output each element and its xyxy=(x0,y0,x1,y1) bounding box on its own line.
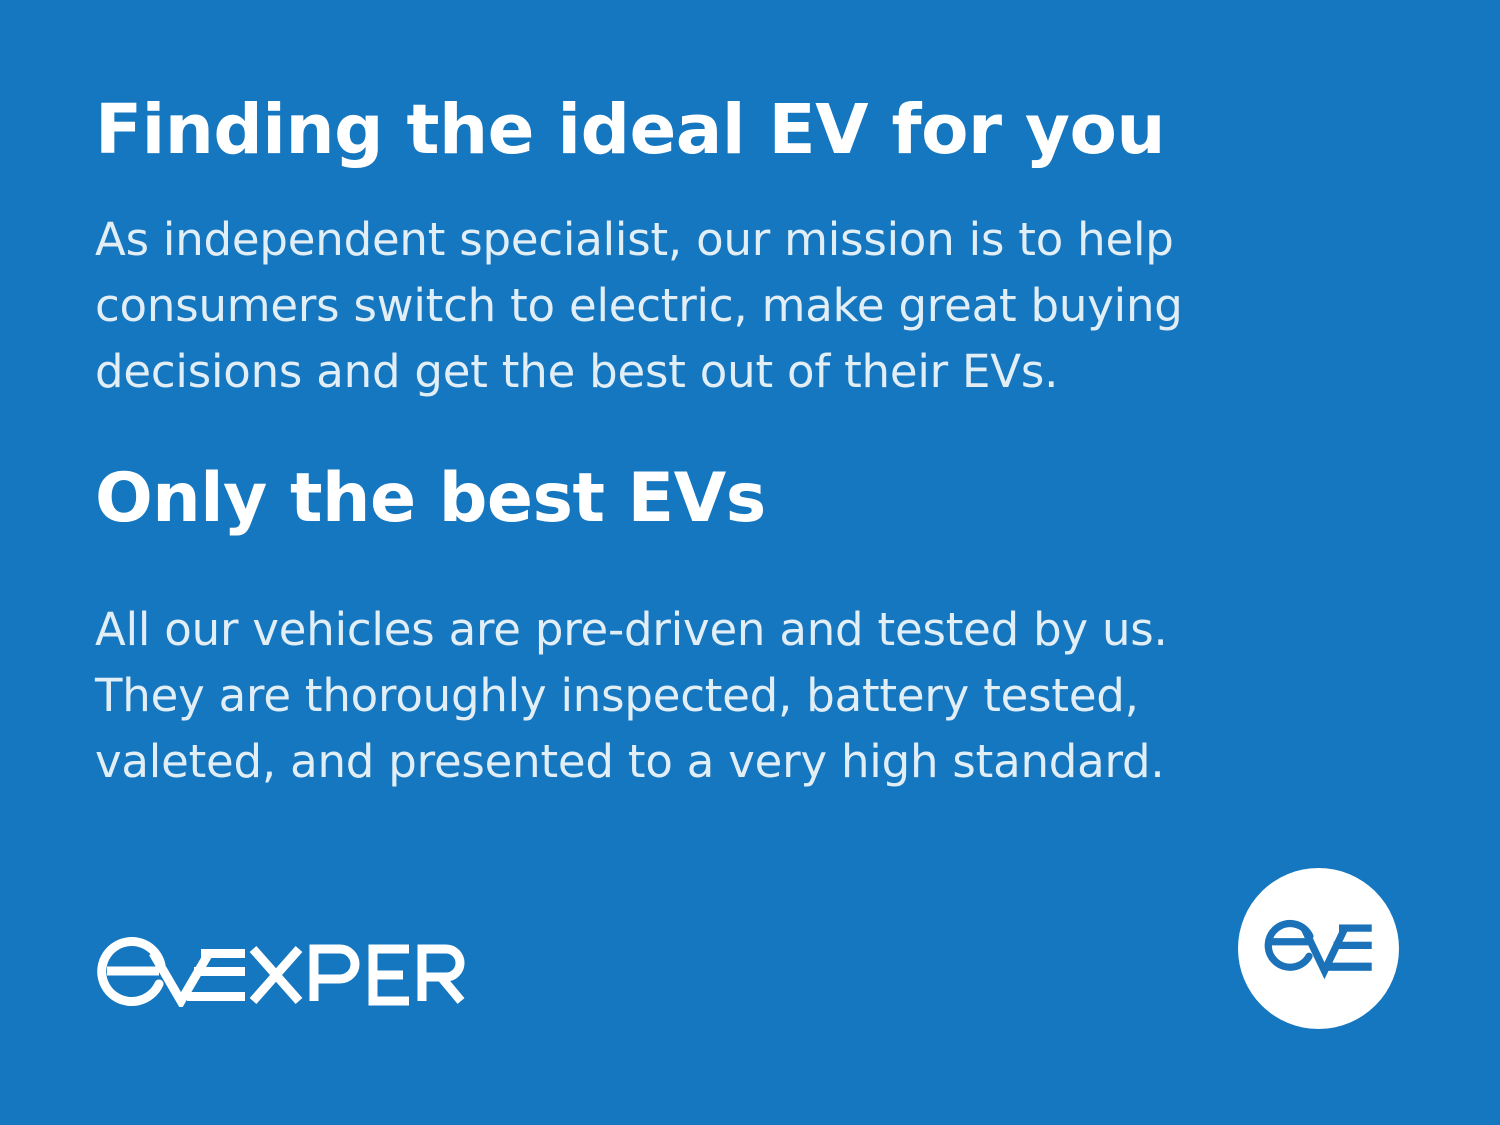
intro-paragraph: As independent specialist, our mission i… xyxy=(95,207,1275,405)
ev-experts-wordmark-logo xyxy=(93,935,473,1007)
intro-paragraph-line-3: decisions and get the best out of their … xyxy=(95,345,1058,398)
vehicles-paragraph-line-1: All our vehicles are pre-driven and test… xyxy=(95,603,1168,656)
ev-experts-circle-logo xyxy=(1238,868,1399,1029)
vehicles-paragraph: All our vehicles are pre-driven and test… xyxy=(95,597,1275,795)
slide-canvas: Finding the ideal EV for you As independ… xyxy=(0,0,1500,1125)
vehicles-paragraph-line-3: valeted, and presented to a very high st… xyxy=(95,735,1165,788)
intro-paragraph-line-1: As independent specialist, our mission i… xyxy=(95,213,1174,266)
page-title: Finding the ideal EV for you xyxy=(95,96,1275,165)
spacer-after-heading-1 xyxy=(95,165,1275,207)
spacer-after-heading-2 xyxy=(95,533,1275,597)
intro-paragraph-line-2: consumers switch to electric, make great… xyxy=(95,279,1183,332)
spacer-after-paragraph-1 xyxy=(95,405,1275,465)
section-title-only-the-best-evs: Only the best EVs xyxy=(95,465,1275,533)
vehicles-paragraph-line-2: They are thoroughly inspected, battery t… xyxy=(95,669,1139,722)
slide-content: Finding the ideal EV for you As independ… xyxy=(95,96,1275,795)
